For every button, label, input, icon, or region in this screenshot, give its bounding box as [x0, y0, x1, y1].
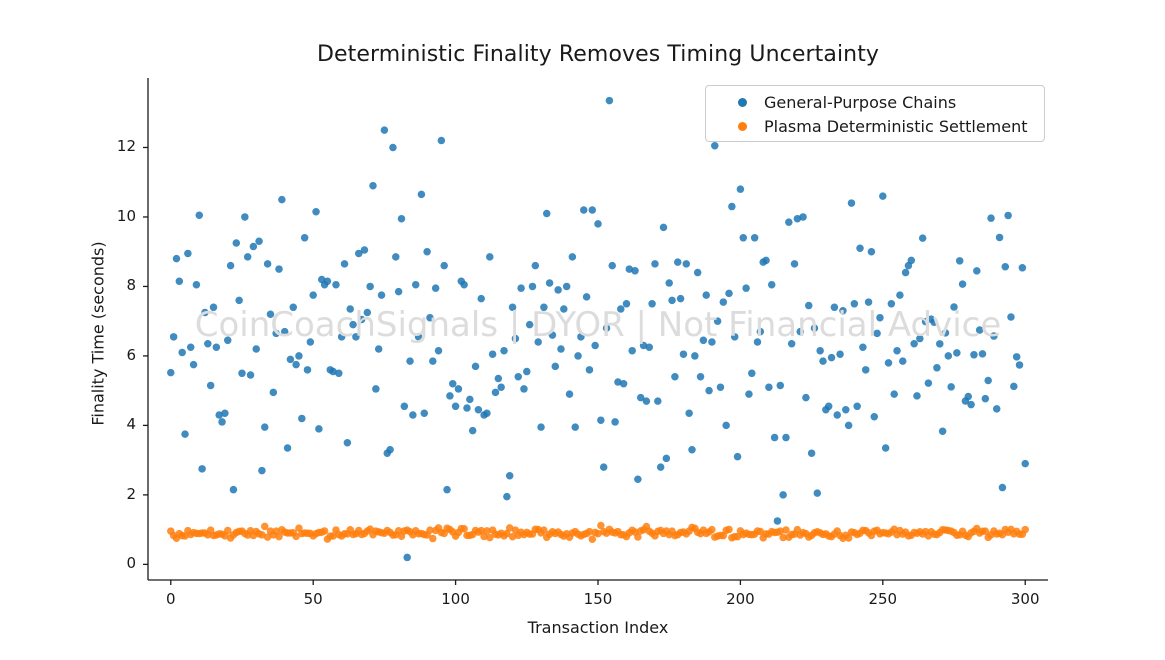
x-axis-label: Transaction Index: [148, 618, 1048, 637]
legend-label: Plasma Deterministic Settlement: [764, 117, 1028, 136]
y-tick-label: 6: [96, 346, 136, 364]
x-tick-label: 50: [283, 590, 343, 608]
legend-label: General-Purpose Chains: [764, 93, 956, 112]
legend-marker-slot: [720, 98, 764, 107]
legend-marker-slot: [720, 122, 764, 131]
y-tick-label: 10: [96, 207, 136, 225]
series-general-purpose-chains: [167, 97, 1029, 561]
x-tick-label: 250: [853, 590, 913, 608]
x-tick-label: 300: [995, 590, 1055, 608]
y-tick-label: 8: [96, 276, 136, 294]
chart-legend[interactable]: General-Purpose Chains Plasma Determinis…: [705, 85, 1045, 142]
y-tick-label: 2: [96, 485, 136, 503]
chart-figure: Deterministic Finality Removes Timing Un…: [0, 0, 1165, 660]
x-tick-label: 100: [426, 590, 486, 608]
series-plasma-deterministic-settlement: [167, 522, 1029, 543]
legend-item-plasma-deterministic-settlement[interactable]: Plasma Deterministic Settlement: [720, 115, 1028, 137]
legend-item-general-purpose-chains[interactable]: General-Purpose Chains: [720, 91, 956, 113]
legend-swatch-icon: [738, 98, 747, 107]
x-tick-label: 0: [141, 590, 201, 608]
x-tick-label: 200: [710, 590, 770, 608]
legend-swatch-icon: [738, 122, 747, 131]
y-tick-label: 4: [96, 415, 136, 433]
x-tick-label: 150: [568, 590, 628, 608]
y-axis-label: Finality Time (seconds): [89, 124, 108, 544]
y-tick-label: 0: [96, 554, 136, 572]
y-tick-label: 12: [96, 137, 136, 155]
